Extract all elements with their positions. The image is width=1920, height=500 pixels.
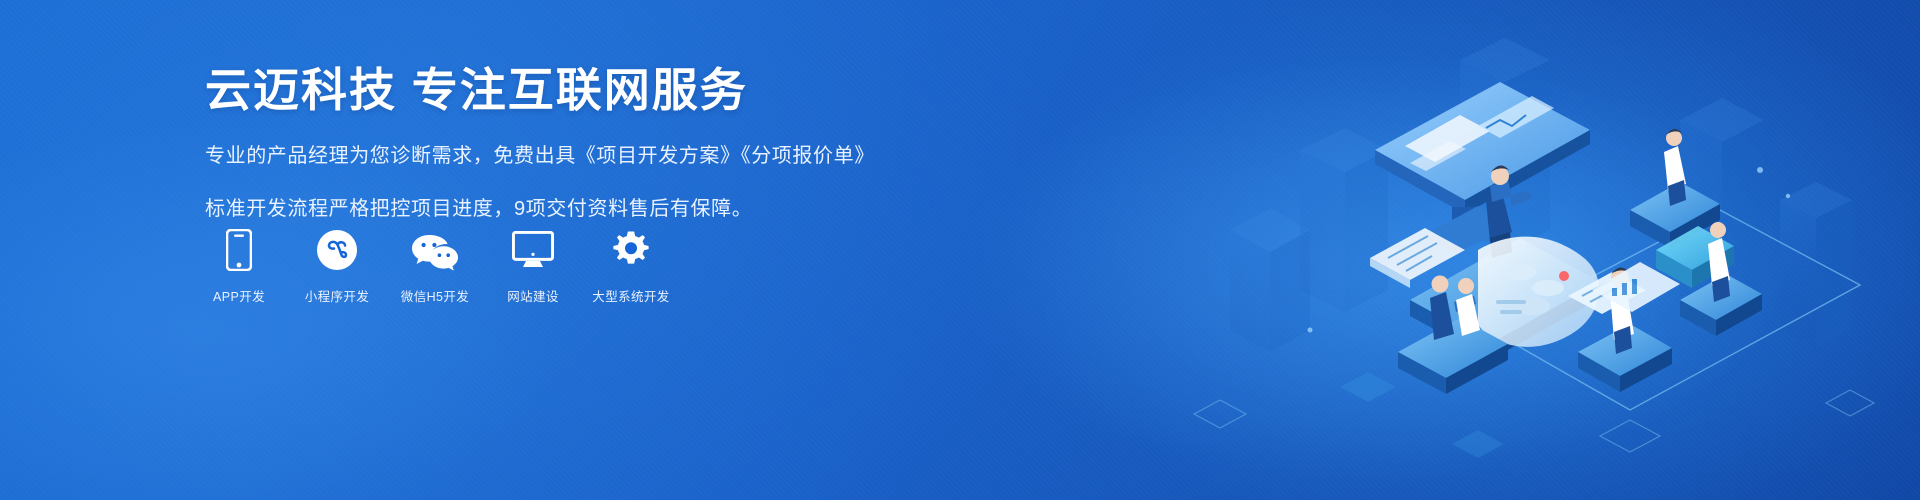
service-label: APP开发	[213, 286, 265, 305]
mini-program-icon	[316, 228, 358, 272]
service-item-website[interactable]: 网站建设	[497, 228, 569, 305]
service-item-large-system[interactable]: 大型系统开发	[595, 228, 667, 305]
gear-icon	[610, 228, 652, 272]
service-item-miniprogram[interactable]: 小程序开发	[301, 228, 373, 305]
service-label: 网站建设	[507, 286, 559, 305]
service-list: APP开发 小程序开发	[203, 228, 667, 305]
isometric-illustration	[1160, 0, 1920, 500]
service-label: 大型系统开发	[592, 286, 669, 305]
service-item-app[interactable]: APP开发	[203, 228, 275, 305]
wechat-icon	[411, 228, 459, 272]
page-title: 云迈科技 专注互联网服务	[205, 62, 905, 118]
hero-banner: 云迈科技 专注互联网服务 专业的产品经理为您诊断需求，免费出具《项目开发方案》《…	[0, 0, 1920, 500]
subtitle-line-1: 专业的产品经理为您诊断需求，免费出具《项目开发方案》《分项报价单》	[205, 140, 905, 172]
service-label: 微信H5开发	[401, 286, 469, 305]
monitor-icon	[512, 228, 554, 272]
service-label: 小程序开发	[305, 286, 370, 305]
service-item-wechat-h5[interactable]: 微信H5开发	[399, 228, 471, 305]
subtitle-line-2: 标准开发流程严格把控项目进度，9项交付资料售后有保障。	[205, 193, 905, 225]
hero-content: 云迈科技 专注互联网服务 专业的产品经理为您诊断需求，免费出具《项目开发方案》《…	[205, 62, 905, 245]
mobile-phone-icon	[226, 228, 252, 272]
